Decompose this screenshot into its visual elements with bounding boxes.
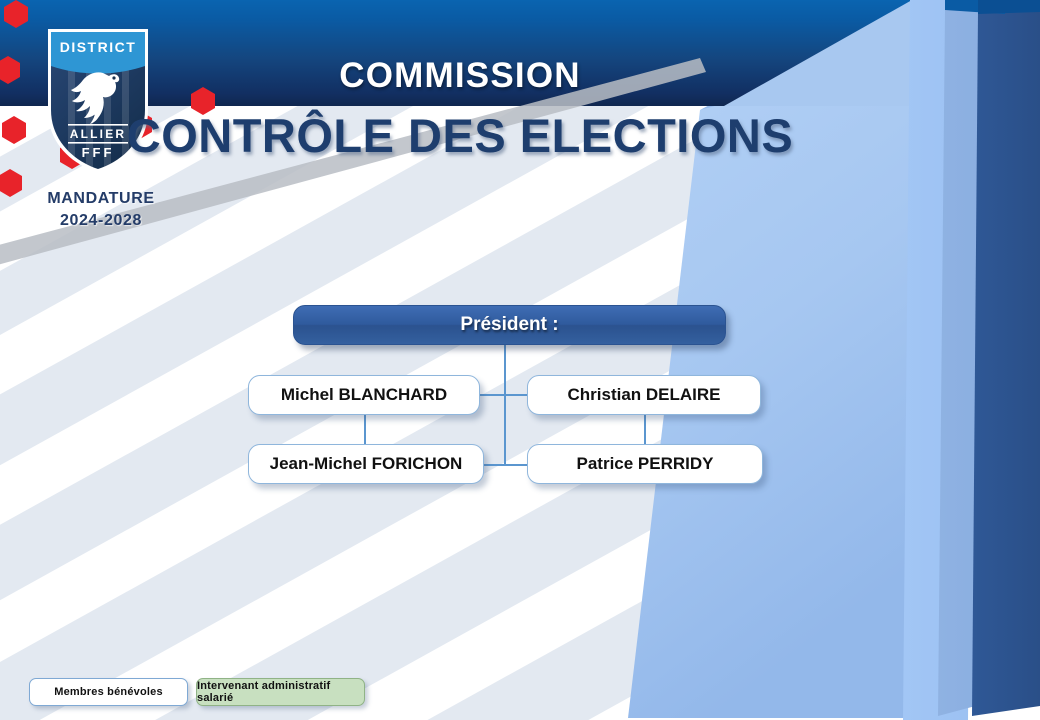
org-node-member-perridy[interactable]: Patrice PERRIDY [527, 444, 763, 484]
legend-volunteers-label: Membres bénévoles [54, 686, 163, 698]
slide-canvas: DISTRICT ALLIER FFF COMMISSION CONTRÔLE … [0, 0, 1040, 720]
legend-volunteers: Membres bénévoles [29, 678, 188, 706]
connector-to-delaire [504, 394, 528, 396]
connector-to-perridy [504, 464, 528, 466]
org-node-member-blanchard[interactable]: Michel BLANCHARD [248, 375, 480, 415]
connector-blanchard-forichon [364, 414, 366, 445]
connector-president-vertical [504, 345, 506, 465]
org-node-member-label: Patrice PERRIDY [577, 454, 714, 474]
connector-to-forichon [484, 464, 505, 466]
legend-salaried-staff-label: Intervenant administratif salarié [197, 680, 364, 704]
org-chart: Président : Michel BLANCHARD Christian D… [0, 0, 1040, 720]
org-node-member-label: Michel BLANCHARD [281, 385, 447, 405]
org-node-member-label: Christian DELAIRE [567, 385, 720, 405]
legend-salaried-staff: Intervenant administratif salarié [196, 678, 365, 706]
connector-to-blanchard [480, 394, 505, 396]
connector-delaire-perridy [644, 414, 646, 445]
org-node-member-forichon[interactable]: Jean-Michel FORICHON [248, 444, 484, 484]
org-node-member-label: Jean-Michel FORICHON [270, 454, 463, 474]
org-node-member-delaire[interactable]: Christian DELAIRE [527, 375, 761, 415]
org-node-president-label: Président : [460, 314, 558, 336]
org-node-president[interactable]: Président : [293, 305, 726, 345]
